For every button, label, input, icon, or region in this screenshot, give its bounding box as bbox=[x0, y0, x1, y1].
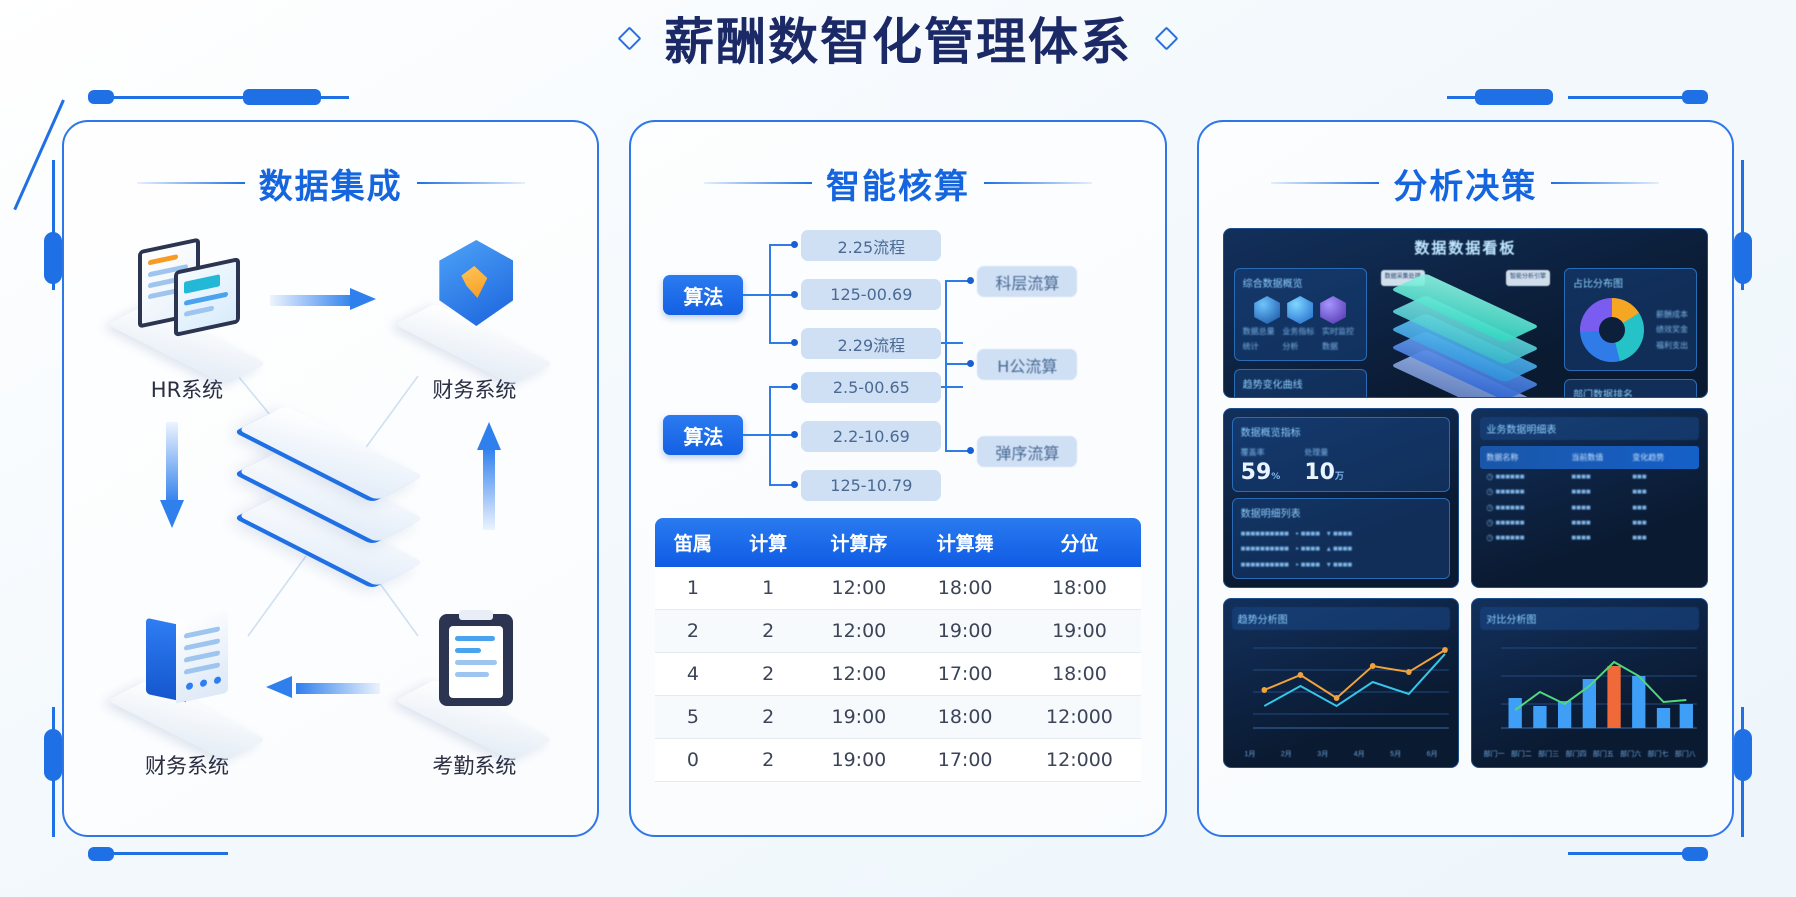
x-tick: 部门四 bbox=[1565, 749, 1586, 759]
card-title: 数据概览指标 bbox=[1241, 424, 1442, 439]
cell: 1 bbox=[731, 567, 806, 610]
clipboard-paper-icon bbox=[449, 626, 503, 698]
detail-table-row: ◷ ■■■■■■■■■■■■■ bbox=[1480, 530, 1699, 545]
wire-dot bbox=[967, 447, 974, 454]
wire-out-collector bbox=[945, 280, 947, 452]
gauge-label: 实时监控数据 bbox=[1322, 324, 1358, 354]
flow-step-4[interactable]: 2.5-00.65 bbox=[801, 372, 941, 403]
gauge-label: 业务指标分析 bbox=[1282, 324, 1318, 354]
arrow-attendance-to-finance bbox=[477, 422, 501, 530]
cell: 2 bbox=[655, 610, 730, 653]
list-row: ■■■■■■■■■■ ▪ ■■■■ ▾ ■■■■ bbox=[1241, 557, 1442, 572]
x-tick: 部门六 bbox=[1620, 749, 1641, 759]
list-row: ■■■■■■■■■■ ▪ ■■■■ ▴ ■■■■ bbox=[1241, 541, 1442, 556]
wire-dot bbox=[791, 383, 798, 390]
table-row[interactable]: 5 2 19:00 18:00 12:000 bbox=[655, 696, 1140, 739]
panel-1-header: 数据集成 bbox=[88, 140, 573, 226]
legend-item: 福利支出 bbox=[1656, 338, 1688, 353]
wire-algo2-vertical bbox=[769, 386, 771, 486]
algorithm-flowchart: 算法 算法 2.25流程 125-00.69 2.29流程 bbox=[655, 230, 1140, 510]
mini-line-chart bbox=[1243, 397, 1358, 398]
kpi-item: 处理量 10万 bbox=[1304, 445, 1344, 485]
integration-diagram: HR系统 财务系统 bbox=[88, 226, 573, 786]
node-hr-system[interactable]: HR系统 bbox=[112, 236, 262, 404]
wire-algo1-trunk bbox=[743, 294, 771, 296]
panel-data-integration: 数据集成 bbox=[62, 120, 599, 837]
hexagon-gauges bbox=[1243, 296, 1358, 324]
panel-2-title: 智能核算 bbox=[826, 159, 970, 208]
node-finance-top[interactable]: 财务系统 bbox=[399, 236, 549, 404]
arrow-attendance-to-server bbox=[266, 676, 380, 698]
card-title: 综合数据概览 bbox=[1243, 275, 1358, 290]
cell: 12:000 bbox=[1018, 739, 1140, 782]
clipboard-icon bbox=[399, 612, 549, 744]
dashboard-center-stack: 数据采集处理 智能分析引擎 bbox=[1377, 268, 1554, 398]
header-rule-right bbox=[1551, 182, 1659, 184]
flow-output-3[interactable]: 弹序流算 bbox=[977, 436, 1077, 467]
cell: 12:00 bbox=[806, 610, 912, 653]
wire-step3-to-collector bbox=[941, 342, 963, 344]
card-title: 部门数据排名 bbox=[1573, 386, 1688, 398]
server-icon bbox=[112, 612, 262, 744]
table-row[interactable]: 4 2 12:00 17:00 18:00 bbox=[655, 653, 1140, 696]
card-title: 数据明细列表 bbox=[1241, 505, 1442, 520]
diamond-right-icon bbox=[1154, 26, 1178, 50]
line-chart-svg bbox=[1232, 636, 1451, 744]
document-front-icon bbox=[174, 257, 240, 337]
table-col-3: 计算舞 bbox=[912, 518, 1018, 567]
flow-output-1[interactable]: 科层流算 bbox=[977, 266, 1077, 297]
x-tick: 6月 bbox=[1427, 749, 1438, 759]
card-title: 趋势变化曲线 bbox=[1243, 376, 1358, 391]
cell: 18:00 bbox=[912, 696, 1018, 739]
dashboard-bar-chart-card[interactable]: 对比分析图 bbox=[1471, 598, 1708, 768]
wire-dot bbox=[791, 431, 798, 438]
documents-icon bbox=[112, 236, 262, 368]
wire-dot bbox=[791, 481, 798, 488]
cell: 4 bbox=[655, 653, 730, 696]
bar-chart-svg bbox=[1480, 636, 1699, 744]
header-rule-right bbox=[417, 182, 525, 184]
cell: 17:00 bbox=[912, 653, 1018, 696]
header-rule-left bbox=[1271, 182, 1379, 184]
kpi-list-block: 数据明细列表 ■■■■■■■■■■ ▪ ■■■■ ▾ ■■■■ ■■■■■■■■… bbox=[1232, 498, 1451, 579]
cell: 17:00 bbox=[912, 739, 1018, 782]
x-tick: 部门八 bbox=[1675, 749, 1696, 759]
cell: 2 bbox=[731, 696, 806, 739]
flow-step-2[interactable]: 125-00.69 bbox=[801, 279, 941, 310]
infographic-canvas: 薪酬数智化管理体系 数据集成 bbox=[0, 0, 1796, 897]
cell: 0 bbox=[655, 739, 730, 782]
kpi-item: 覆盖率 59% bbox=[1241, 445, 1281, 485]
donut-legend: 薪酬成本 绩效奖金 福利支出 bbox=[1656, 307, 1688, 353]
cell: 12:00 bbox=[806, 567, 912, 610]
chart-title: 对比分析图 bbox=[1480, 607, 1699, 630]
wire-dot bbox=[791, 241, 798, 248]
algorithm-node-2[interactable]: 算法 bbox=[663, 415, 743, 455]
line-chart-xaxis: 1月 2月 3月 4月 5月 6月 bbox=[1232, 749, 1451, 759]
wire-dot bbox=[791, 339, 798, 346]
cell: 12:000 bbox=[1018, 696, 1140, 739]
x-tick: 4月 bbox=[1354, 749, 1365, 759]
node-attendance-label: 考勤系统 bbox=[399, 750, 549, 780]
cell: 2 bbox=[731, 653, 806, 696]
dashboard-card-trend[interactable]: 趋势变化曲线 上月值 bbox=[1234, 369, 1367, 398]
hexagon-gauge-icon bbox=[1254, 296, 1280, 324]
table-col-0: 笛属 bbox=[655, 518, 730, 567]
clipboard-clip-icon bbox=[459, 610, 493, 620]
detail-table-row: ◷ ■■■■■■■■■■■■■ bbox=[1480, 515, 1699, 530]
dashboard-charts-row: 趋势分析图 bbox=[1223, 598, 1708, 768]
page-title-bar: 薪酬数智化管理体系 bbox=[0, 2, 1796, 74]
panels-container: 数据集成 bbox=[62, 120, 1734, 837]
card-title: 占比分布图 bbox=[1573, 275, 1688, 290]
x-tick: 2月 bbox=[1281, 749, 1292, 759]
x-tick: 3月 bbox=[1317, 749, 1328, 759]
table-header-row: 笛属 计算 计算序 计算舞 分位 bbox=[655, 518, 1140, 567]
layered-database-icon bbox=[231, 418, 431, 598]
hexagon-gauge-icon bbox=[1320, 296, 1346, 324]
cell: 19:00 bbox=[806, 739, 912, 782]
dashboard-card-ranking[interactable]: 部门数据排名 bbox=[1564, 379, 1697, 398]
x-tick: 1月 bbox=[1244, 749, 1255, 759]
dashboard-main-row: 综合数据概览 数据总量统计 业务指标分析 实时监控数据 bbox=[1234, 268, 1697, 398]
cell: 2 bbox=[731, 610, 806, 653]
dashboard-main-title: 数据数据看板 bbox=[1234, 237, 1697, 258]
table-col-2: 计算序 bbox=[806, 518, 912, 567]
wire-dot bbox=[967, 360, 974, 367]
detail-table-row: ◷ ■■■■■■■■■■■■■ bbox=[1480, 469, 1699, 484]
arrow-hr-to-finance bbox=[270, 288, 376, 310]
legend-item: 薪酬成本 bbox=[1656, 307, 1688, 322]
cell: 5 bbox=[655, 696, 730, 739]
node-attendance[interactable]: 考勤系统 bbox=[399, 612, 549, 780]
arrow-hr-to-server bbox=[160, 422, 184, 530]
kpi-value: 59% bbox=[1241, 460, 1281, 485]
kpi-block: 数据概览指标 覆盖率 59% 处理量 10万 bbox=[1232, 417, 1451, 492]
bar-chart-xaxis: 部门一 部门二 部门三 部门四 部门五 部门六 部门七 部门八 bbox=[1480, 749, 1699, 759]
node-finance-bottom[interactable]: 财务系统 bbox=[112, 612, 262, 780]
table-col-1: 计算 bbox=[731, 518, 806, 567]
flow-step-6[interactable]: 125-10.79 bbox=[801, 470, 941, 501]
table-col-4: 分位 bbox=[1018, 518, 1140, 567]
shield-icon bbox=[399, 236, 549, 368]
panel-analysis-decision: 分析决策 数据数据看板 综合数据概览 bbox=[1197, 120, 1734, 837]
dashboard-line-chart-card[interactable]: 趋势分析图 bbox=[1223, 598, 1460, 768]
wire-dot bbox=[967, 277, 974, 284]
dashboard-kpi-card[interactable]: 数据概览指标 覆盖率 59% 处理量 10万 bbox=[1223, 408, 1460, 588]
panel-1-title: 数据集成 bbox=[259, 159, 403, 208]
x-tick: 部门一 bbox=[1483, 749, 1504, 759]
dashboard-detail-table-card[interactable]: 业务数据明细表 数据名称 当前数值 变化趋势 ◷ ■■■■■■■■■■■■■ ◷… bbox=[1471, 408, 1708, 588]
cell: 19:00 bbox=[806, 696, 912, 739]
wire-algo2-trunk bbox=[743, 434, 771, 436]
header-rule-left bbox=[137, 182, 245, 184]
kpi-label: 覆盖率 bbox=[1241, 445, 1281, 460]
col-header: 数据名称 bbox=[1486, 450, 1571, 465]
x-tick: 部门七 bbox=[1647, 749, 1668, 759]
card-title: 业务数据明细表 bbox=[1480, 417, 1699, 440]
panel-intelligent-accounting: 智能核算 算法 算法 2.25流程 125-00.69 2.29流程 bbox=[629, 120, 1166, 837]
detail-table-row: ◷ ■■■■■■■■■■■■■ bbox=[1480, 500, 1699, 515]
dashboard-main-card[interactable]: 数据数据看板 综合数据概览 bbox=[1223, 228, 1708, 398]
wire-step4-to-collector bbox=[941, 386, 963, 388]
panel-3-title: 分析决策 bbox=[1393, 159, 1537, 208]
x-tick: 部门五 bbox=[1593, 749, 1614, 759]
legend-item: 绩效奖金 bbox=[1656, 322, 1688, 337]
gauge-labels: 数据总量统计 业务指标分析 实时监控数据 bbox=[1243, 324, 1358, 354]
algorithm-node-1[interactable]: 算法 bbox=[663, 275, 743, 315]
page-title: 薪酬数智化管理体系 bbox=[664, 2, 1132, 74]
chart-title: 趋势分析图 bbox=[1232, 607, 1451, 630]
header-rule-right bbox=[984, 182, 1092, 184]
detail-table-row: ◷ ■■■■■■■■■■■■■ bbox=[1480, 484, 1699, 499]
flow-step-1[interactable]: 2.25流程 bbox=[801, 230, 941, 261]
cell: 1 bbox=[655, 567, 730, 610]
x-tick: 5月 bbox=[1390, 749, 1401, 759]
x-tick: 部门二 bbox=[1511, 749, 1532, 759]
panel-3-header: 分析决策 bbox=[1223, 140, 1708, 226]
cell: 19:00 bbox=[912, 610, 1018, 653]
kpi-value: 10万 bbox=[1304, 460, 1344, 485]
dashboard-card-overview[interactable]: 综合数据概览 数据总量统计 业务指标分析 实时监控数据 bbox=[1234, 268, 1367, 361]
donut-chart bbox=[1580, 298, 1644, 362]
dashboard-mockup: 数据数据看板 综合数据概览 bbox=[1223, 228, 1708, 768]
list-row: ■■■■■■■■■■ ▪ ■■■■ ▾ ■■■■ bbox=[1241, 526, 1442, 541]
cell: 18:00 bbox=[1018, 653, 1140, 696]
detail-table-header: 数据名称 当前数值 变化趋势 bbox=[1480, 446, 1699, 469]
flow-step-3[interactable]: 2.29流程 bbox=[801, 328, 941, 359]
layered-stack-icon bbox=[1377, 268, 1554, 398]
cell: 18:00 bbox=[912, 567, 1018, 610]
dashboard-card-distribution[interactable]: 占比分布图 薪酬成本 绩效奖金 福利支出 bbox=[1564, 268, 1697, 371]
cell: 2 bbox=[731, 739, 806, 782]
flow-step-5[interactable]: 2.2-10.69 bbox=[801, 421, 941, 452]
node-finance-bottom-label: 财务系统 bbox=[112, 750, 262, 780]
cell: 12:00 bbox=[806, 653, 912, 696]
accounting-table: 笛属 计算 计算序 计算舞 分位 1 1 12:00 18:00 18:00 bbox=[655, 518, 1140, 782]
wire-dot bbox=[791, 291, 798, 298]
x-tick: 部门三 bbox=[1538, 749, 1559, 759]
flow-output-2[interactable]: H公流算 bbox=[977, 349, 1077, 380]
panel-2-header: 智能核算 bbox=[655, 140, 1140, 226]
node-hr-label: HR系统 bbox=[112, 374, 262, 404]
col-header: 当前数值 bbox=[1571, 450, 1632, 465]
table-row[interactable]: 1 1 12:00 18:00 18:00 bbox=[655, 567, 1140, 610]
hexagon-gauge-icon bbox=[1287, 296, 1313, 324]
cell: 18:00 bbox=[1018, 567, 1140, 610]
cell: 19:00 bbox=[1018, 610, 1140, 653]
server-side-icon bbox=[176, 610, 228, 703]
table-row[interactable]: 0 2 19:00 17:00 12:000 bbox=[655, 739, 1140, 782]
diamond-left-icon bbox=[617, 26, 641, 50]
kpi-label: 处理量 bbox=[1304, 445, 1344, 460]
dashboard-lower-row: 数据概览指标 覆盖率 59% 处理量 10万 bbox=[1223, 408, 1708, 588]
col-header: 变化趋势 bbox=[1632, 450, 1693, 465]
header-rule-left bbox=[704, 182, 812, 184]
gauge-label: 数据总量统计 bbox=[1243, 324, 1279, 354]
table-row[interactable]: 2 2 12:00 19:00 19:00 bbox=[655, 610, 1140, 653]
node-finance-top-label: 财务系统 bbox=[399, 374, 549, 404]
